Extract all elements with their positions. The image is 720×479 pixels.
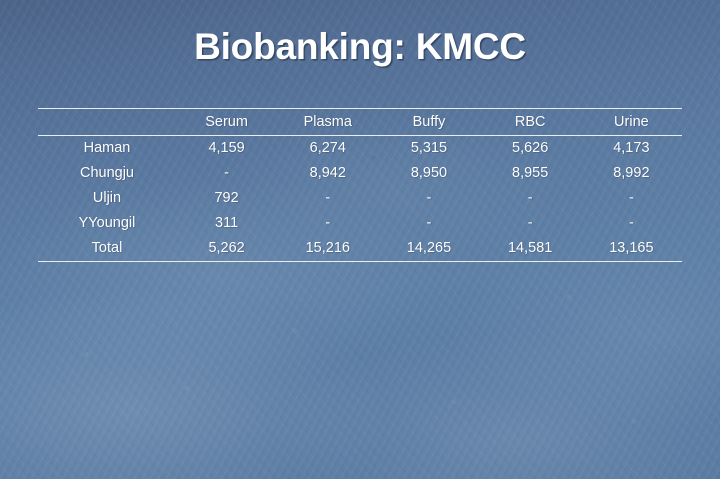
cell-total-urine: 13,165 bbox=[581, 236, 682, 262]
cell-uljin-buffy: - bbox=[378, 186, 479, 211]
column-header-plasma: Plasma bbox=[277, 109, 378, 136]
row-label-haman: Haman bbox=[38, 136, 176, 162]
table-header: Serum Plasma Buffy RBC Urine bbox=[38, 109, 682, 136]
table-corner-header bbox=[38, 109, 176, 136]
cell-haman-buffy: 5,315 bbox=[378, 136, 479, 162]
page-title: Biobanking: KMCC bbox=[0, 26, 720, 68]
cell-chungju-rbc: 8,955 bbox=[480, 161, 581, 186]
table-row: Haman 4,159 6,274 5,315 5,626 4,173 bbox=[38, 136, 682, 162]
cell-uljin-plasma: - bbox=[277, 186, 378, 211]
row-label-uljin: Uljin bbox=[38, 186, 176, 211]
cell-yyoungil-serum: 311 bbox=[176, 211, 277, 236]
cell-chungju-plasma: 8,942 bbox=[277, 161, 378, 186]
row-label-yyoungil: YYoungil bbox=[38, 211, 176, 236]
table-row: Chungju - 8,942 8,950 8,955 8,992 bbox=[38, 161, 682, 186]
cell-haman-plasma: 6,274 bbox=[277, 136, 378, 162]
column-header-serum: Serum bbox=[176, 109, 277, 136]
cell-total-rbc: 14,581 bbox=[480, 236, 581, 262]
table-row: YYoungil 311 - - - - bbox=[38, 211, 682, 236]
column-header-buffy: Buffy bbox=[378, 109, 479, 136]
cell-total-serum: 5,262 bbox=[176, 236, 277, 262]
table-body: Haman 4,159 6,274 5,315 5,626 4,173 Chun… bbox=[38, 136, 682, 262]
row-label-total: Total bbox=[38, 236, 176, 262]
slide-content: Biobanking: KMCC Serum Plasma Buffy RBC … bbox=[0, 0, 720, 479]
cell-chungju-serum: - bbox=[176, 161, 277, 186]
column-header-rbc: RBC bbox=[480, 109, 581, 136]
cell-yyoungil-rbc: - bbox=[480, 211, 581, 236]
table-row: Uljin 792 - - - - bbox=[38, 186, 682, 211]
cell-uljin-rbc: - bbox=[480, 186, 581, 211]
row-label-chungju: Chungju bbox=[38, 161, 176, 186]
cell-chungju-buffy: 8,950 bbox=[378, 161, 479, 186]
cell-chungju-urine: 8,992 bbox=[581, 161, 682, 186]
cell-total-plasma: 15,216 bbox=[277, 236, 378, 262]
table-row-total: Total 5,262 15,216 14,265 14,581 13,165 bbox=[38, 236, 682, 262]
cell-uljin-urine: - bbox=[581, 186, 682, 211]
table-header-row: Serum Plasma Buffy RBC Urine bbox=[38, 109, 682, 136]
cell-haman-urine: 4,173 bbox=[581, 136, 682, 162]
column-header-urine: Urine bbox=[581, 109, 682, 136]
cell-total-buffy: 14,265 bbox=[378, 236, 479, 262]
cell-yyoungil-plasma: - bbox=[277, 211, 378, 236]
cell-yyoungil-buffy: - bbox=[378, 211, 479, 236]
slide-canvas: Biobanking: KMCC Serum Plasma Buffy RBC … bbox=[0, 0, 720, 479]
cell-uljin-serum: 792 bbox=[176, 186, 277, 211]
cell-yyoungil-urine: - bbox=[581, 211, 682, 236]
cell-haman-rbc: 5,626 bbox=[480, 136, 581, 162]
cell-haman-serum: 4,159 bbox=[176, 136, 277, 162]
biobanking-table: Serum Plasma Buffy RBC Urine Haman 4,159… bbox=[38, 108, 682, 262]
